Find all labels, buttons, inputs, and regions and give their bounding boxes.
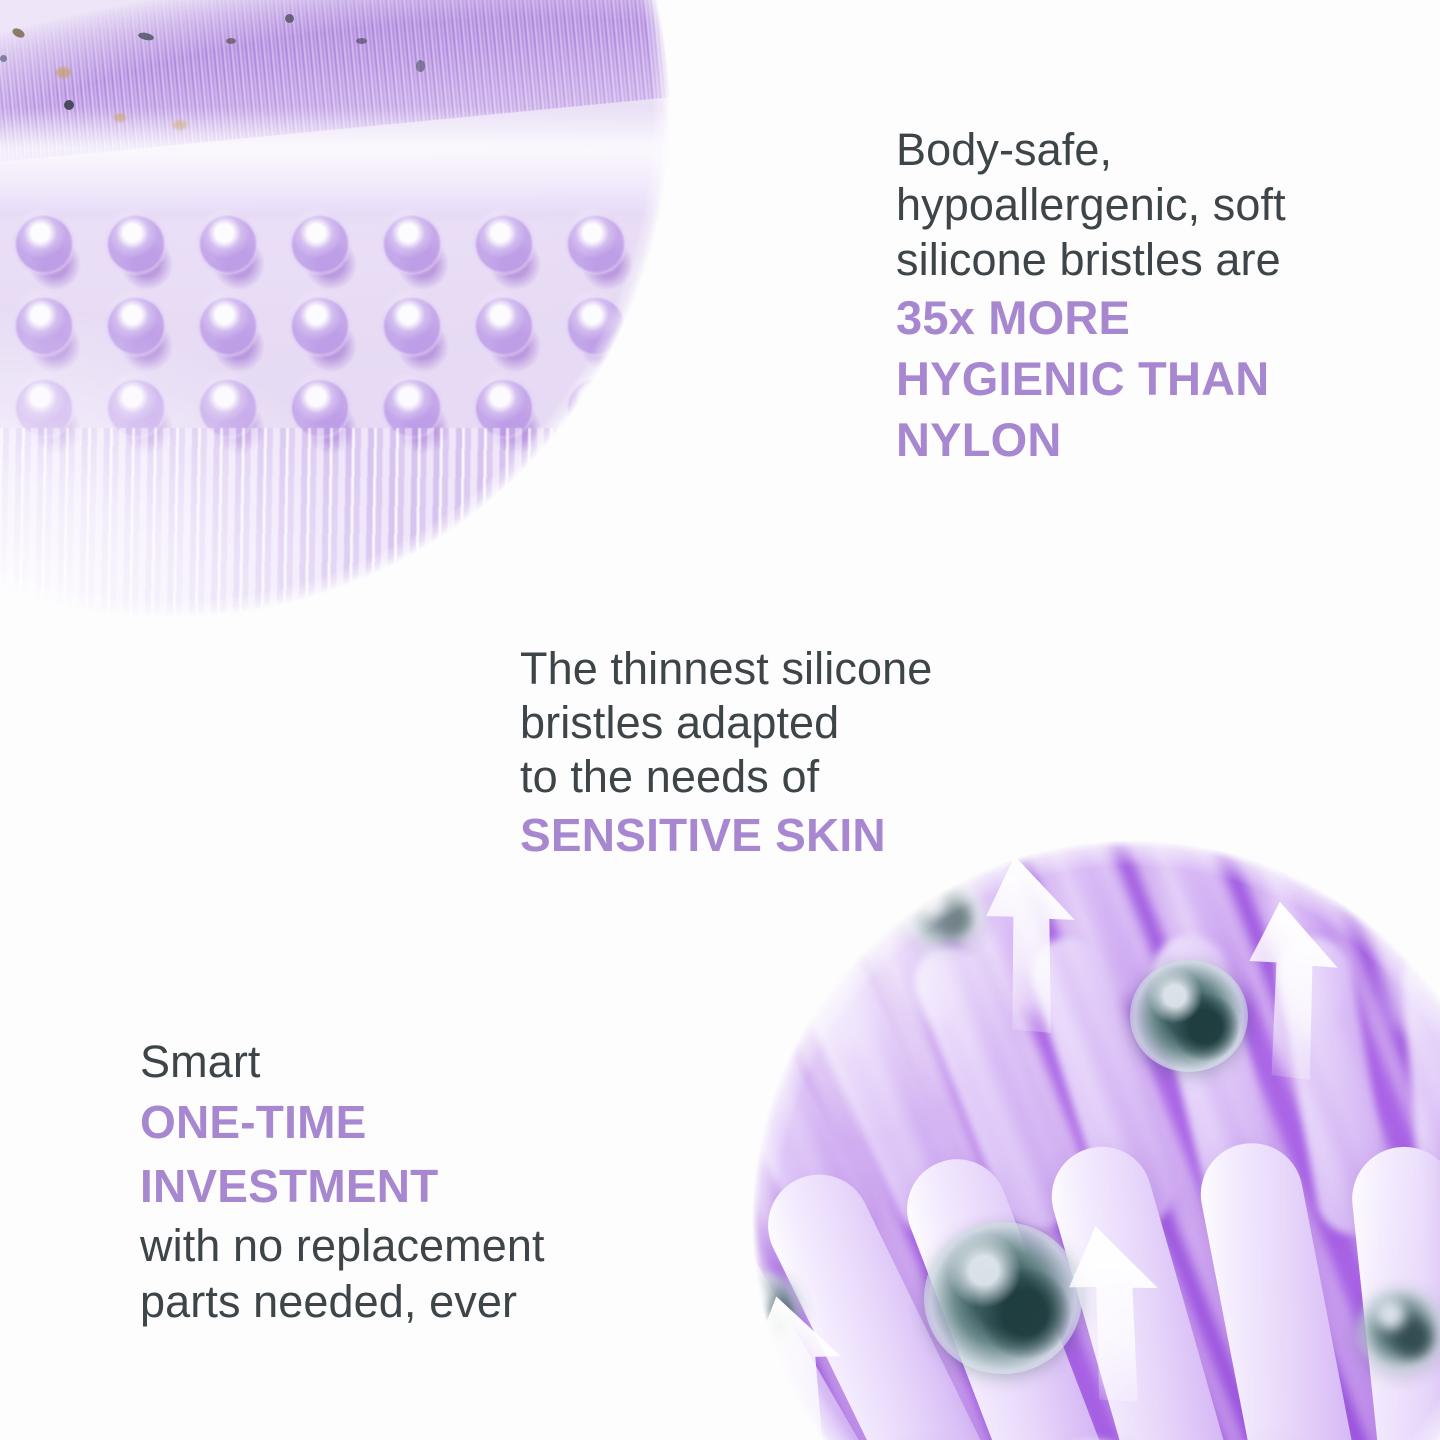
debris-speck [285, 14, 294, 23]
benefit-line-emphasis: HYGIENIC THAN [896, 348, 1286, 409]
benefit-line: silicone bristles are [896, 232, 1286, 287]
benefit-investment-text-block: Smart ONE-TIME INVESTMENT with no replac… [140, 1034, 545, 1330]
debris-speck [0, 55, 7, 62]
benefit-line: to the needs of [520, 750, 932, 804]
benefit-line: Body-safe, [896, 122, 1286, 177]
lift-arrow-icon [1024, 1222, 1174, 1412]
debris-speck [173, 120, 187, 130]
benefit-line-emphasis: SENSITIVE SKIN [520, 804, 932, 866]
debris-speck [64, 100, 74, 110]
lower-arc-glow [0, 0, 670, 618]
benefit-line-emphasis: ONE-TIME [140, 1090, 545, 1154]
grime-cluster [1358, 1288, 1440, 1372]
lift-arrow-icon [1202, 898, 1352, 1088]
debris-speck [114, 113, 126, 122]
benefit-line-emphasis: 35x MORE [896, 287, 1286, 348]
lift-arrow-icon [940, 852, 1090, 1042]
dirt-lifting-bristles-photo [752, 840, 1440, 1440]
debris-speck [356, 38, 367, 44]
benefit-line: hypoallergenic, soft [896, 177, 1286, 232]
debris-speck [56, 67, 71, 78]
benefit-line: bristles adapted [520, 696, 932, 750]
poster-canvas: Body-safe, hypoallergenic, soft silicone… [0, 0, 1440, 1440]
debris-speck [226, 38, 236, 44]
benefit-line: Smart [140, 1034, 545, 1090]
benefit-line-emphasis: INVESTMENT [140, 1154, 545, 1218]
benefit-sensitive-skin-text-block: The thinnest silicone bristles adapted t… [520, 642, 932, 866]
debris-speck [416, 60, 425, 72]
benefit-line: parts needed, ever [140, 1274, 545, 1330]
benefit-line: with no replacement [140, 1218, 545, 1274]
silicone-bristle-macro-photo [0, 0, 670, 618]
benefit-line-emphasis: NYLON [896, 409, 1286, 470]
benefit-hygienic-text-block: Body-safe, hypoallergenic, soft silicone… [896, 122, 1286, 470]
lift-arrow-icon [752, 1292, 858, 1440]
benefit-line: The thinnest silicone [520, 642, 932, 696]
